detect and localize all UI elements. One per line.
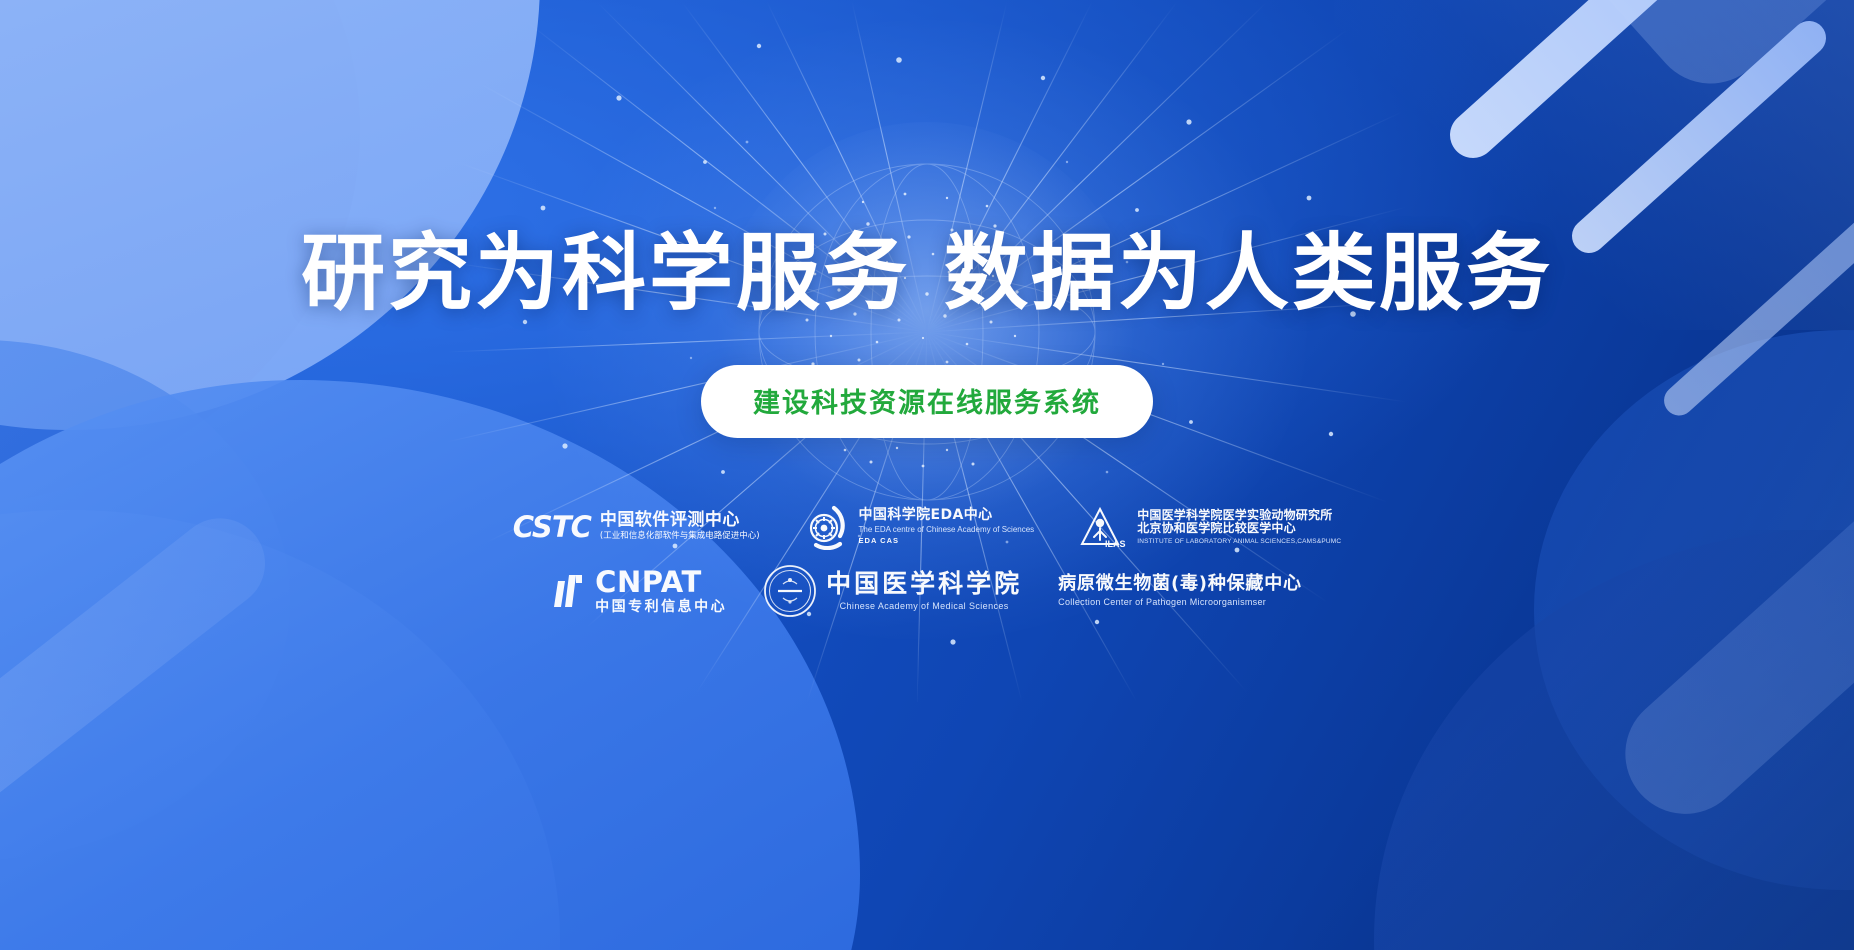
eda-tagline: EDA CAS [859,537,1035,545]
ilas-name-en: INSTITUTE OF LABORATORY ANIMAL SCIENCES,… [1137,538,1341,545]
cnpat-acronym: CNPAT [595,566,727,598]
partner-logo-cstc[interactable]: CSTC 中国软件评测中心 (工业和信息化部软件与集成电路促进中心) [513,510,760,544]
cstc-name-sub: (工业和信息化部软件与集成电路促进中心) [600,532,760,542]
pathogen-name-cn: 病原微生物菌(毒)种保藏中心 [1058,574,1302,594]
cstc-name-cn: 中国软件评测中心 [600,511,760,530]
partner-logo-ilas[interactable]: ILAS 中国医学科学院医学实验动物研究所 北京协和医学院比较医学中心 INST… [1078,504,1341,550]
partner-logos: CSTC 中国软件评测中心 (工业和信息化部软件与集成电路促进中心) [497,504,1357,618]
eda-name-cn: 中国科学院EDA中心 [859,508,1035,524]
page-title: 研究为科学服务数据为人类服务 [301,228,1553,319]
partner-logo-cams[interactable]: 中国医学科学院 Chinese Academy of Medical Scien… [763,564,1022,618]
cams-seal-icon [763,564,817,618]
partner-logo-row-2: CNPAT 中国专利信息中心 [552,564,1302,618]
partner-logo-row-1: CSTC 中国软件评测中心 (工业和信息化部软件与集成电路促进中心) [513,504,1342,550]
cnpat-bars-icon [552,573,586,609]
banner-content: 研究为科学服务数据为人类服务 建设科技资源在线服务系统 CSTC 中国软件评测中… [0,0,1854,950]
headline-part-2: 数据为人类服务 [944,224,1553,322]
eda-cas-emblem-icon [804,504,850,550]
subtitle-pill[interactable]: 建设科技资源在线服务系统 [701,365,1153,438]
partner-logo-pathogen-collection[interactable]: 病原微生物菌(毒)种保藏中心 Collection Center of Path… [1058,574,1302,607]
pathogen-name-en: Collection Center of Pathogen Microorgan… [1058,597,1302,607]
svg-text:ILAS: ILAS [1105,539,1126,549]
cams-name-cn: 中国医学科学院 [826,570,1022,598]
partner-logo-cnpat[interactable]: CNPAT 中国专利信息中心 [552,566,727,615]
ilas-name-cn-2: 北京协和医学院比较医学中心 [1137,522,1341,535]
cams-name-en: Chinese Academy of Medical Sciences [840,601,1009,611]
cstc-wordmark-icon: CSTC [513,510,591,544]
hero-banner: 研究为科学服务数据为人类服务 建设科技资源在线服务系统 CSTC 中国软件评测中… [0,0,1854,950]
cnpat-name-cn: 中国专利信息中心 [595,600,727,616]
partner-logo-eda-cas[interactable]: 中国科学院EDA中心 The EDA centre of Chinese Aca… [804,504,1035,550]
headline-part-1: 研究为科学服务 [301,224,910,322]
ilas-emblem-icon: ILAS [1078,504,1128,550]
eda-name-en: The EDA centre of Chinese Academy of Sci… [859,526,1035,535]
